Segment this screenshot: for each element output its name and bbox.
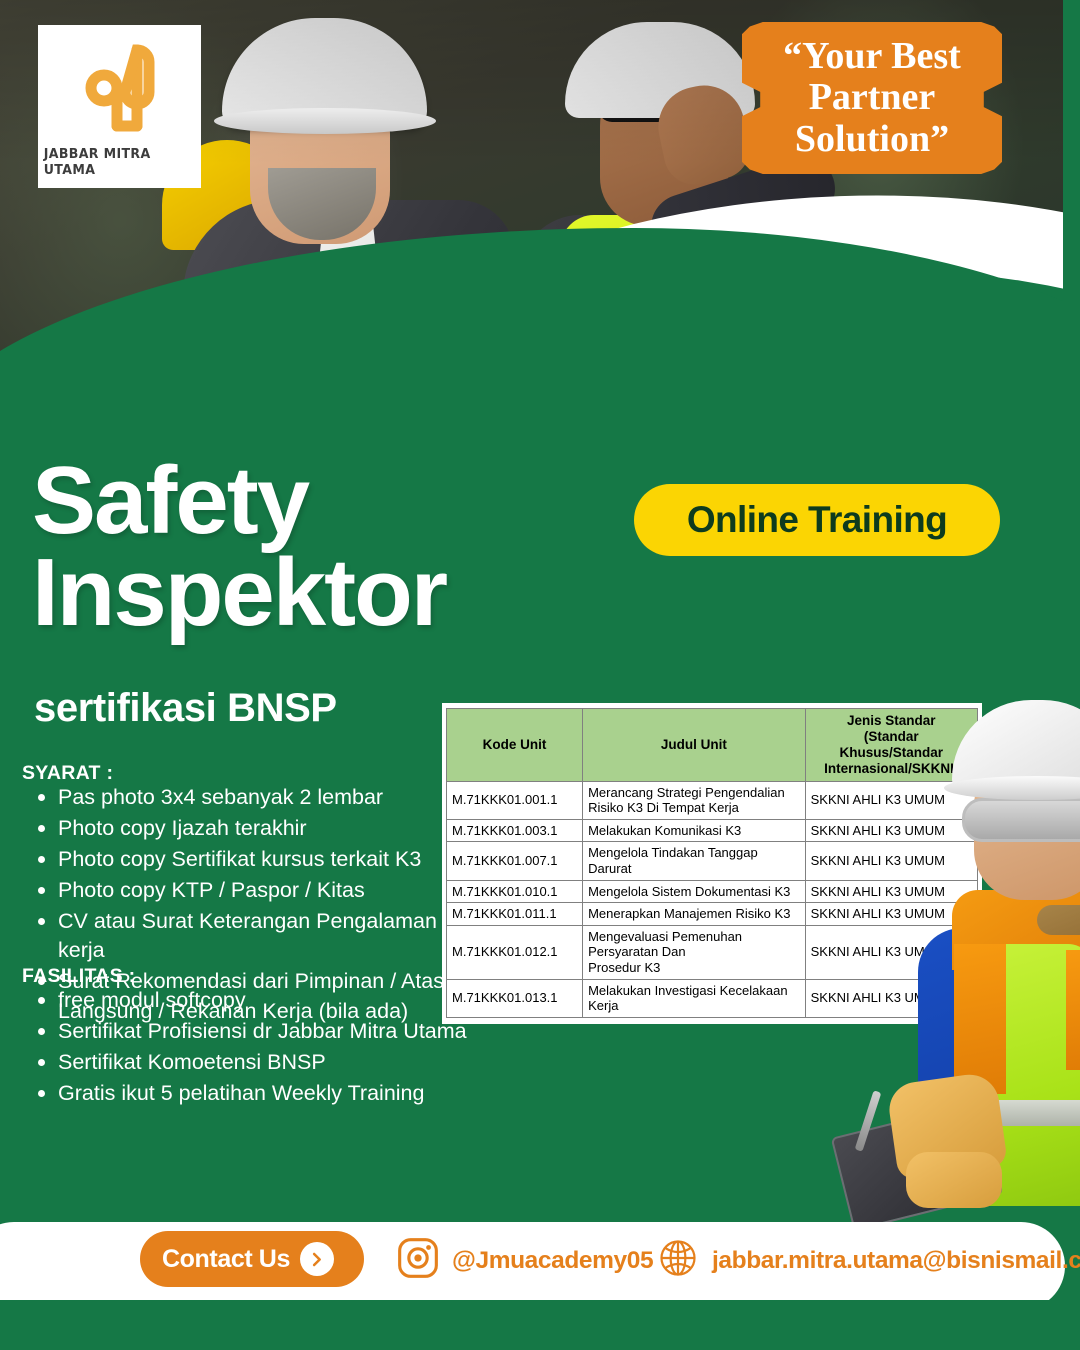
contact-us-label: Contact Us	[162, 1245, 290, 1274]
cell-judul: Menerapkan Manajemen Risiko K3	[583, 903, 806, 926]
title-line-1: Safety	[32, 447, 308, 554]
cell-kode: M.71KKK01.012.1	[447, 925, 583, 979]
list-item: free modul softcopy	[58, 986, 478, 1016]
online-training-badge: Online Training	[634, 484, 1000, 556]
cell-kode: M.71KKK01.013.1	[447, 979, 583, 1017]
list-item: Photo copy Sertifikat kursus terkait K3	[58, 845, 483, 875]
column-header-judul-unit: Judul Unit	[583, 709, 806, 782]
fasilitas-heading: FASILITAS :	[22, 965, 135, 988]
globe-icon	[656, 1236, 700, 1285]
table-header-row: Kode Unit Judul Unit Jenis Standar (Stan…	[447, 709, 978, 782]
table-row: M.71KKK01.013.1 Melakukan Investigasi Ke…	[447, 979, 978, 1017]
list-item: CV atau Surat Keterangan Pengalaman kerj…	[58, 907, 483, 967]
goggle-lens	[1037, 905, 1080, 935]
bottom-green-band	[0, 1300, 1080, 1350]
table-row: M.71KKK01.007.1 Mengelola Tindakan Tangg…	[447, 842, 978, 880]
cell-kode: M.71KKK01.007.1	[447, 842, 583, 880]
fasilitas-list: free modul softcopy Sertifikat Profisien…	[22, 986, 478, 1110]
jmu-monogram-icon	[74, 36, 166, 140]
cell-judul: Merancang Strategi Pengendalian Risiko K…	[583, 781, 806, 819]
tagline-line-2: Partner	[809, 76, 936, 118]
syarat-heading: SYARAT :	[22, 762, 113, 785]
title-line-2: Inspektor	[32, 547, 446, 639]
brand-logo: JABBAR MITRA UTAMA	[38, 25, 201, 188]
worker-glove-lower	[906, 1152, 1002, 1208]
safety-goggles-icon	[962, 798, 1080, 842]
cell-kode: M.71KKK01.010.1	[447, 880, 583, 903]
page-subtitle: sertifikasi BNSP	[34, 686, 337, 731]
poster-canvas: JABBAR MITRA UTAMA “Your Best Partner So…	[0, 0, 1080, 1350]
instagram-contact[interactable]: @Jmuacademy05	[396, 1236, 653, 1285]
worker-vest-orange-right	[1066, 950, 1080, 1070]
tagline-line-1: “Your Best	[783, 35, 961, 77]
page-title: Safety Inspektor	[32, 455, 446, 639]
cell-judul: Melakukan Komunikasi K3	[583, 819, 806, 842]
list-item: Sertifikat Profisiensi dr Jabbar Mitra U…	[58, 1017, 478, 1047]
table-row: M.71KKK01.003.1 Melakukan Komunikasi K3 …	[447, 819, 978, 842]
cell-kode: M.71KKK01.001.1	[447, 781, 583, 819]
cell-judul: Mengelola Tindakan Tanggap Darurat	[583, 842, 806, 880]
instagram-handle: @Jmuacademy05	[452, 1247, 653, 1275]
table-row: M.71KKK01.001.1 Merancang Strategi Penge…	[447, 781, 978, 819]
cell-judul: Mengevaluasi Pemenuhan Persyaratan Dan P…	[583, 925, 806, 979]
list-item: Gratis ikut 5 pelatihan Weekly Training	[58, 1079, 478, 1109]
worker-helmet-brim	[944, 776, 1080, 800]
list-item: Photo copy KTP / Paspor / Kitas	[58, 876, 483, 906]
cell-kode: M.71KKK01.011.1	[447, 903, 583, 926]
worker-photo-cutout	[900, 700, 1080, 1205]
tagline-line-3: Solution”	[795, 118, 949, 160]
table-row: M.71KKK01.010.1 Mengelola Sistem Dokumen…	[447, 880, 978, 903]
table-row: M.71KKK01.011.1 Menerapkan Manajemen Ris…	[447, 903, 978, 926]
email-address: jabbar.mitra.utama@bisnismail.com	[712, 1247, 1080, 1275]
list-item: Pas photo 3x4 sebanyak 2 lembar	[58, 783, 483, 813]
column-header-kode-unit: Kode Unit	[447, 709, 583, 782]
worker-vest-orange-left	[954, 944, 1006, 1094]
email-contact[interactable]: jabbar.mitra.utama@bisnismail.com	[656, 1236, 1080, 1285]
chevron-right-icon	[300, 1242, 334, 1276]
cell-kode: M.71KKK01.003.1	[447, 819, 583, 842]
unit-table: Kode Unit Judul Unit Jenis Standar (Stan…	[446, 708, 978, 1018]
table-row: M.71KKK01.012.1 Mengevaluasi Pemenuhan P…	[447, 925, 978, 979]
brand-logo-name: JABBAR MITRA UTAMA	[44, 146, 196, 178]
green-right-strip	[1063, 0, 1080, 320]
cell-judul: Mengelola Sistem Dokumentasi K3	[583, 880, 806, 903]
cell-judul: Melakukan Investigasi Kecelakaan Kerja	[583, 979, 806, 1017]
instagram-icon	[396, 1236, 440, 1285]
list-item: Photo copy Ijazah terakhir	[58, 814, 483, 844]
tagline-badge: “Your Best Partner Solution”	[742, 22, 1002, 174]
contact-us-button[interactable]: Contact Us	[140, 1231, 364, 1287]
list-item: Sertifikat Komoetensi BNSP	[58, 1048, 478, 1078]
